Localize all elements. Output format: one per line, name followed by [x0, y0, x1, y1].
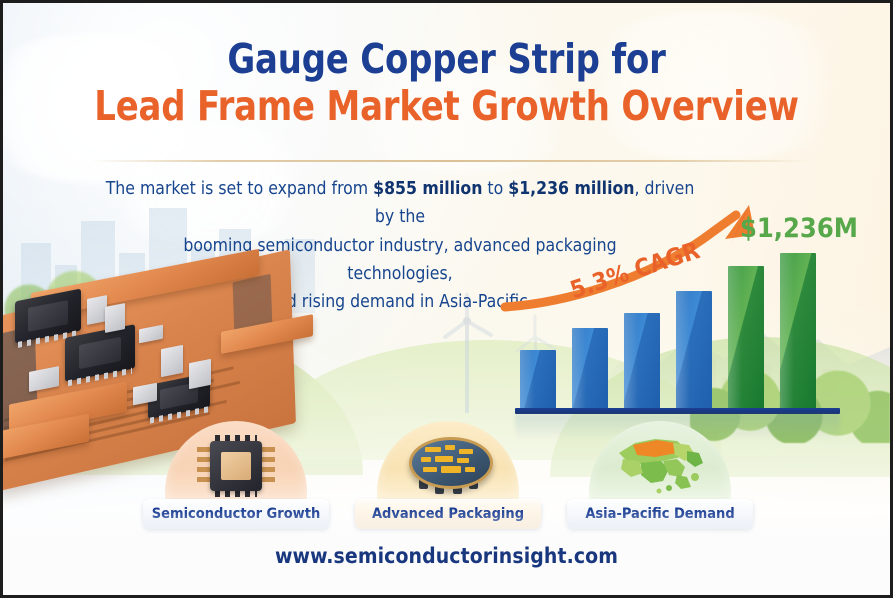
- infographic-poster: Gauge Copper Strip for Lead Frame Market…: [0, 0, 893, 598]
- page-title: Gauge Copper Strip for Lead Frame Market…: [3, 37, 890, 129]
- growth-bar-chart: 5.3% CAGR $1,236M: [503, 199, 863, 414]
- peak-value-label: $1,236M: [740, 213, 858, 244]
- bar-item: [520, 350, 556, 408]
- wafer-package-icon: [403, 433, 493, 497]
- title-divider: [89, 160, 814, 162]
- end-value-bold: $1,236 million: [508, 179, 634, 199]
- summary-text-a: The market is set to expand from: [106, 179, 373, 199]
- footer-url[interactable]: www.semiconductorinsight.com: [3, 544, 890, 568]
- bar-item: [728, 266, 764, 408]
- bar-item: [676, 291, 712, 408]
- start-value-bold: $855 million: [373, 179, 482, 199]
- asia-map-icon: [611, 431, 707, 497]
- summary-text-c: to: [482, 179, 508, 199]
- title-line-1: Gauge Copper Strip for: [38, 37, 854, 81]
- bar-item: [624, 313, 660, 408]
- title-line-2: Lead Frame Market Growth Overview: [38, 84, 854, 128]
- bar-item: [780, 253, 816, 408]
- bar-item: [572, 328, 608, 408]
- microchip-icon: [197, 435, 275, 497]
- chip-icon: [15, 289, 81, 344]
